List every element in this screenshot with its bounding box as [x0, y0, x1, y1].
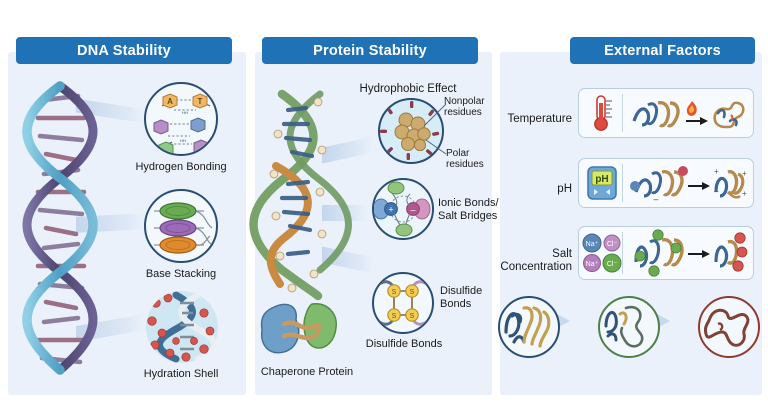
- divider-ph: [622, 164, 623, 202]
- base-stacking-circle: [144, 189, 218, 263]
- svg-text:S: S: [410, 289, 415, 296]
- svg-text:–: –: [714, 187, 719, 196]
- svg-text:Na⁺: Na⁺: [586, 241, 599, 248]
- label-salt-concentration: Salt Concentration: [500, 248, 572, 274]
- label-disulfide-bonds-below: Disulfide Bonds: [348, 338, 460, 351]
- label-ionic-bonds-salt-bridges: Ionic Bonds/ Salt Bridges: [438, 197, 508, 223]
- hydration-shell-circle: [146, 291, 218, 363]
- protein-salt-shielding: [628, 230, 748, 276]
- svg-text:–: –: [410, 205, 415, 215]
- svg-text:+: +: [742, 169, 747, 178]
- partially-unfolded-state-circle: [598, 296, 660, 358]
- svg-text:HH: HH: [182, 110, 188, 115]
- callout-leader-lines: [420, 96, 460, 166]
- ph-meter-icon: pH: [586, 165, 618, 201]
- ph-meter-text: pH: [595, 174, 608, 185]
- svg-text:T: T: [198, 97, 203, 106]
- panel-header-dna: DNA Stability: [16, 37, 232, 64]
- chaperone-protein-blob: [258, 298, 344, 360]
- divider-temperature: [622, 94, 623, 132]
- panel-header-protein: Protein Stability: [262, 37, 478, 64]
- panel-header-external: External Factors: [570, 37, 755, 64]
- svg-text:+: +: [742, 189, 747, 198]
- label-hydrogen-bonding: Hydrogen Bonding: [120, 161, 242, 174]
- label-chaperone-protein: Chaperone Protein: [252, 366, 362, 379]
- hydrogen-bonding-circle: A T HHHH: [144, 82, 218, 156]
- svg-text:HH: HH: [180, 138, 186, 143]
- thermometer-icon: [590, 94, 616, 132]
- folded-native-state-circle: [498, 296, 560, 358]
- divider-salt: [622, 232, 623, 274]
- protein-charge-shift: – ++ –+: [630, 164, 748, 204]
- dna-double-helix: [14, 78, 106, 378]
- denatured-state-circle: [698, 296, 760, 358]
- svg-text:–: –: [653, 194, 658, 204]
- label-base-stacking: Base Stacking: [120, 268, 242, 281]
- label-hydrophobic-effect: Hydrophobic Effect: [338, 83, 478, 96]
- svg-text:A: A: [167, 97, 173, 106]
- protein-denature-by-heat: [630, 95, 748, 133]
- label-hydration-shell: Hydration Shell: [120, 368, 242, 381]
- svg-text:S: S: [392, 313, 397, 320]
- svg-text:Cl⁻: Cl⁻: [607, 241, 618, 248]
- disulfide-bond-circle: SS SS: [372, 272, 434, 334]
- ionic-bond-circle: + –: [372, 178, 434, 240]
- label-disulfide-bonds-side: Disulfide Bonds: [440, 285, 500, 311]
- svg-text:S: S: [410, 313, 415, 320]
- label-temperature: Temperature: [506, 113, 572, 126]
- svg-text:+: +: [714, 167, 719, 176]
- svg-text:S: S: [392, 289, 397, 296]
- protein-helix-strand: [262, 88, 342, 300]
- svg-text:Na⁺: Na⁺: [586, 261, 599, 268]
- svg-text:+: +: [388, 205, 393, 215]
- label-ph: pH: [506, 183, 572, 196]
- svg-text:Cl⁻: Cl⁻: [607, 261, 618, 268]
- salt-ions-icon: Na⁺ Cl⁻ Na⁺ Cl⁻: [582, 232, 622, 274]
- figure-canvas: DNA Stability Protein Stability External…: [0, 0, 768, 403]
